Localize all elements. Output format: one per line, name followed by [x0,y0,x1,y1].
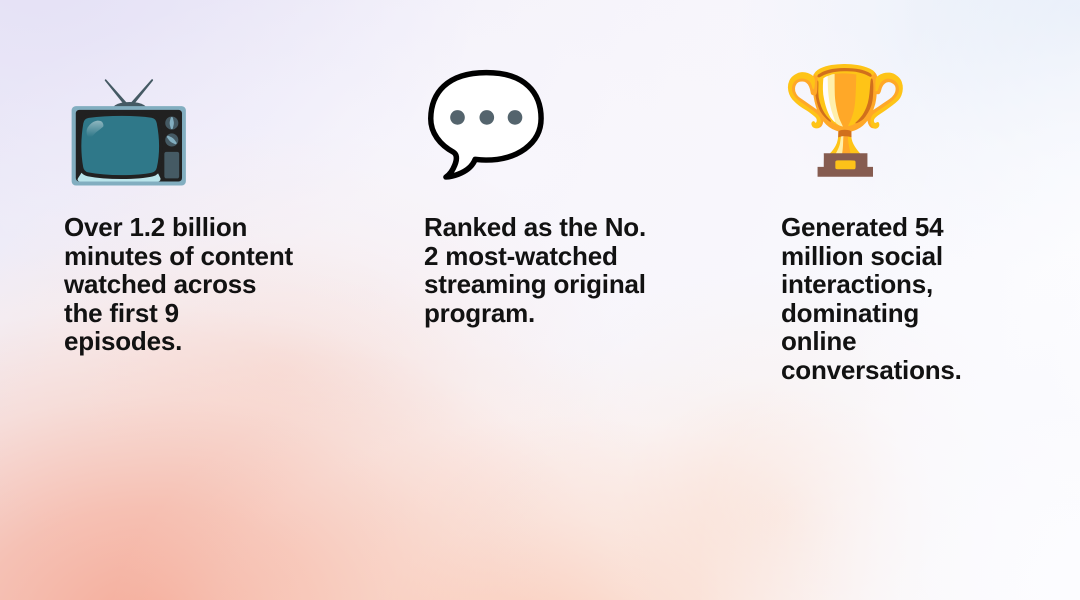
stat-text-streaming-rank: Ranked as the No. 2 most-watched streami… [424,213,656,327]
speech-balloon-icon: 💬 [424,62,548,186]
stats-columns: 📺 Over 1.2 billion minutes of content wa… [0,0,1080,600]
stat-text-minutes-watched: Over 1.2 billion minutes of content watc… [64,213,300,356]
stats-slide: 📺 Over 1.2 billion minutes of content wa… [0,0,1080,600]
television-icon: 📺 [64,66,188,190]
stat-text-social-interactions: Generated 54 million social interactions… [781,213,993,385]
trophy-icon: 🏆 [781,58,905,182]
